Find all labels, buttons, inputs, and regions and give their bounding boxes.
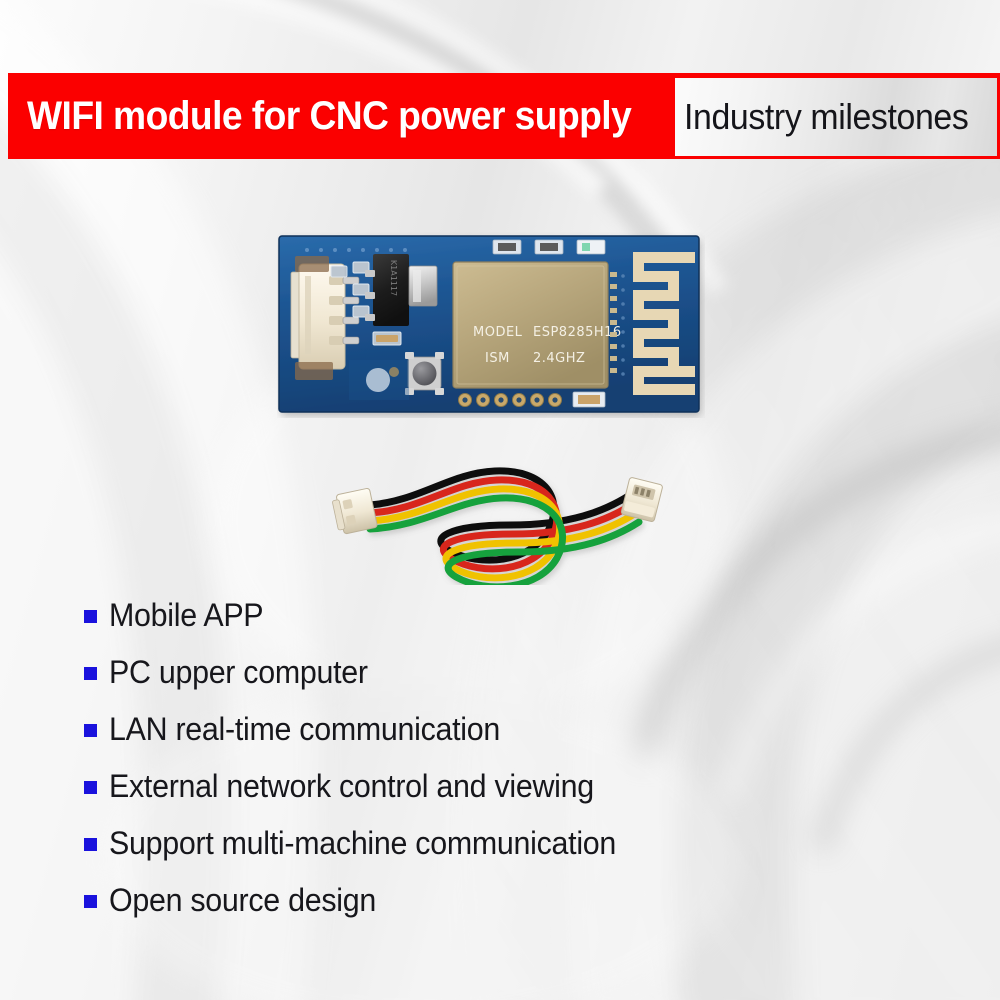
- svg-text:ESP8285H16: ESP8285H16: [533, 325, 622, 340]
- feature-item-pc-upper-computer: PC upper computer: [84, 653, 784, 710]
- bullet-square-icon: [84, 667, 97, 680]
- feature-item-multi-machine: Support multi-machine communication: [84, 824, 784, 881]
- feature-item-open-source: Open source design: [84, 881, 784, 938]
- feature-item-lan-realtime: LAN real-time communication: [84, 710, 784, 767]
- top-smd-components: [493, 240, 605, 254]
- product-feature-slide: WIFI module for CNC power supply Industr…: [0, 0, 1000, 1000]
- tact-switch: [405, 352, 444, 395]
- feature-label: Support multi-machine communication: [109, 824, 616, 862]
- wifi-module-board-image: K1A1117: [277, 232, 705, 418]
- bullet-square-icon: [84, 610, 97, 623]
- industry-milestones-box: Industry milestones: [672, 75, 1000, 159]
- cable-connector-right: [621, 477, 663, 522]
- feature-label: External network control and viewing: [109, 767, 594, 805]
- industry-milestones-label: Industry milestones: [684, 96, 968, 138]
- feature-item-external-network: External network control and viewing: [84, 767, 784, 824]
- feature-label: PC upper computer: [109, 653, 368, 691]
- bullet-square-icon: [84, 724, 97, 737]
- svg-text:ISM: ISM: [485, 351, 510, 366]
- feature-label: LAN real-time communication: [109, 710, 500, 748]
- svg-text:K1A1117: K1A1117: [389, 260, 398, 296]
- esp-shield-can: MODEL ESP8285H16 ISM 2.4GHZ: [453, 262, 622, 388]
- feature-label: Open source design: [109, 881, 376, 919]
- bullet-square-icon: [84, 781, 97, 794]
- banner-title: WIFI module for CNC power supply: [27, 94, 631, 139]
- jst-cable-image: [330, 455, 680, 585]
- cable-connector-left: [331, 488, 377, 535]
- svg-text:MODEL: MODEL: [473, 325, 523, 340]
- feature-item-mobile-app: Mobile APP: [84, 596, 784, 653]
- feature-list: Mobile APP PC upper computer LAN real-ti…: [84, 596, 784, 938]
- feature-label: Mobile APP: [109, 596, 263, 634]
- bullet-square-icon: [84, 838, 97, 851]
- bullet-square-icon: [84, 895, 97, 908]
- svg-text:2.4GHZ: 2.4GHZ: [533, 351, 585, 366]
